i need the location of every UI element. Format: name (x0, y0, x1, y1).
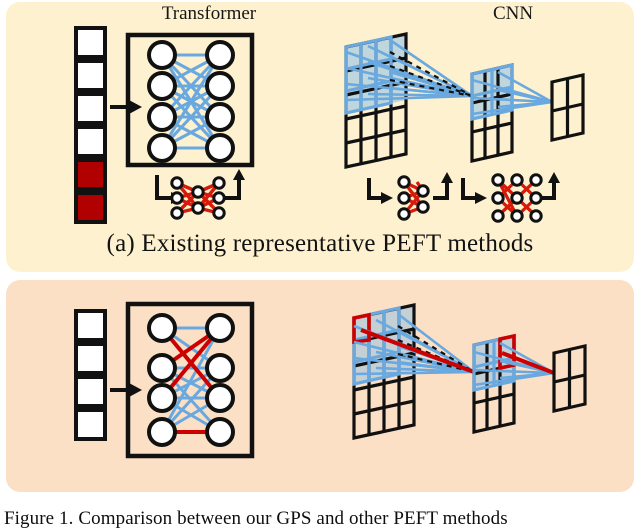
panel-a-label: (a) Existing representative PEFT methods (6, 230, 634, 258)
cnn-plane-3-b (554, 346, 585, 411)
cnn-adapter-1-a (369, 172, 453, 219)
neuron (149, 73, 175, 99)
neuron (207, 42, 233, 68)
input-token-square (76, 127, 105, 156)
panel-existing-peft-methods: Transformer CNN (a) Existing representat… (6, 2, 634, 272)
transformer-edges-a (162, 55, 220, 148)
input-token-square (76, 344, 105, 373)
figure-caption: Figure 1. Comparison between our GPS and… (4, 508, 640, 530)
neuron (149, 42, 175, 68)
cnn-adapter-2-a (463, 172, 560, 221)
neuron (207, 385, 233, 411)
cnn-diagram-b (354, 305, 585, 438)
neuron (207, 73, 233, 99)
neuron (207, 315, 233, 341)
neuron (149, 315, 175, 341)
neuron (149, 135, 175, 161)
figure-container: Transformer CNN (a) Existing representat… (0, 0, 640, 529)
neuron (207, 135, 233, 161)
transformer-adapter-a (157, 169, 245, 218)
neuron (207, 419, 233, 445)
transformer-input-tokens-b (76, 311, 105, 439)
cnn-plane-3-a (552, 75, 583, 140)
neuron (149, 355, 175, 381)
panel-gradient-based-parameter-selection: (b) Gradient-based Parameter Selection (… (6, 280, 634, 492)
input-token-square-selected (76, 193, 105, 222)
input-token-square (76, 377, 105, 406)
label-transformer: Transformer (114, 3, 304, 25)
cnn-diagram-a (346, 34, 583, 167)
label-cnn: CNN (418, 3, 608, 25)
transformer-input-tokens-a (76, 28, 105, 222)
input-token-square (76, 410, 105, 439)
input-token-square (76, 28, 105, 57)
input-token-square (76, 61, 105, 90)
neuron (149, 385, 175, 411)
panel-b-diagram (6, 280, 634, 492)
neuron (149, 104, 175, 130)
input-token-square (76, 311, 105, 340)
neuron (149, 419, 175, 445)
neuron (207, 104, 233, 130)
input-token-square (76, 94, 105, 123)
input-token-square-selected (76, 160, 105, 189)
neuron (207, 355, 233, 381)
